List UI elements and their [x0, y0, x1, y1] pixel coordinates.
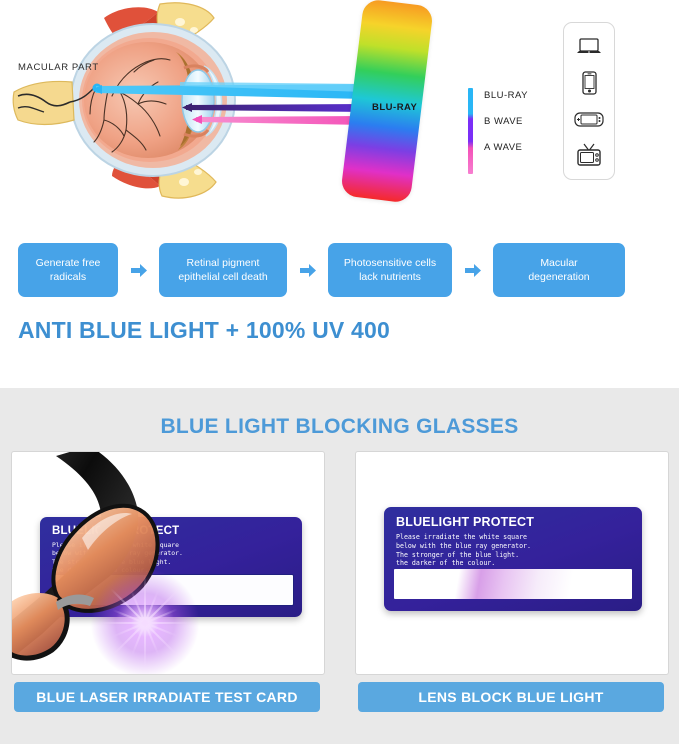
flow-step-1-line2: radicals [50, 271, 86, 283]
flow-step-4-line2: degeneration [528, 271, 589, 283]
caption-lens-block: LENS BLOCK BLUE LIGHT [358, 682, 664, 712]
television-icon [574, 142, 604, 168]
laptop-icon [574, 34, 604, 60]
smartphone-icon [574, 70, 604, 96]
legend-item-awave: A WAVE [484, 142, 522, 153]
product-demo-section: BLUE LIGHT BLOCKING GLASSES BLUELIGHT PR… [0, 388, 679, 744]
flow-step-3-line2: lack nutrients [359, 271, 421, 283]
photo-panel-laser-test: BLUELIGHT PROTECT Please irradiate the w… [11, 451, 325, 675]
spectrum-bluray-label: BLU-RAY [372, 102, 417, 113]
legend-item-bluray: BLU-RAY [484, 90, 528, 101]
flow-arrow-3-icon [465, 263, 482, 278]
flow-step-4-line1: Macular [540, 257, 577, 269]
flow-step-1-line1: Generate free [36, 257, 101, 269]
photo-panel-lens-block: BLUELIGHT PROTECT Please irradiate the w… [355, 451, 669, 675]
flow-step-2-line1: Retinal pigment [187, 257, 260, 269]
flow-step-4: Maculardegeneration [493, 243, 625, 297]
section-title: BLUE LIGHT BLOCKING GLASSES [0, 415, 679, 439]
flow-step-3-line1: Photosensitive cells [344, 257, 436, 269]
test-card-right-white-strip [394, 569, 632, 599]
legend-item-bwave: B WAVE [484, 116, 523, 127]
damage-flow-diagram: Generate freeradicals Retinal pigmentepi… [0, 243, 679, 301]
sunglasses-overlay [12, 452, 324, 674]
top-infographic-section: MACULAR PART BLU-RAY [0, 0, 679, 388]
test-card-right-title: BLUELIGHT PROTECT [396, 515, 534, 529]
flow-arrow-2-icon [300, 263, 317, 278]
flow-step-3: Photosensitive cellslack nutrients [328, 243, 452, 297]
legend-gradient-swatch [468, 88, 473, 174]
test-card-right: BLUELIGHT PROTECT Please irradiate the w… [384, 507, 642, 611]
blue-light-device-panel [563, 22, 615, 180]
flow-step-2: Retinal pigmentepithelial cell death [159, 243, 287, 297]
flow-step-1: Generate freeradicals [18, 243, 118, 297]
handheld-console-icon [574, 106, 604, 132]
wave-legend: BLU-RAY B WAVE A WAVE [468, 88, 560, 180]
caption-laser-test: BLUE LASER IRRADIATE TEST CARD [14, 682, 320, 712]
flow-step-2-line2: epithelial cell death [178, 271, 267, 283]
test-card-right-body: Please irradiate the white square below … [396, 533, 531, 568]
flow-arrow-1-icon [131, 263, 148, 278]
headline-anti-blue-light: ANTI BLUE LIGHT + 100% UV 400 [18, 317, 390, 344]
